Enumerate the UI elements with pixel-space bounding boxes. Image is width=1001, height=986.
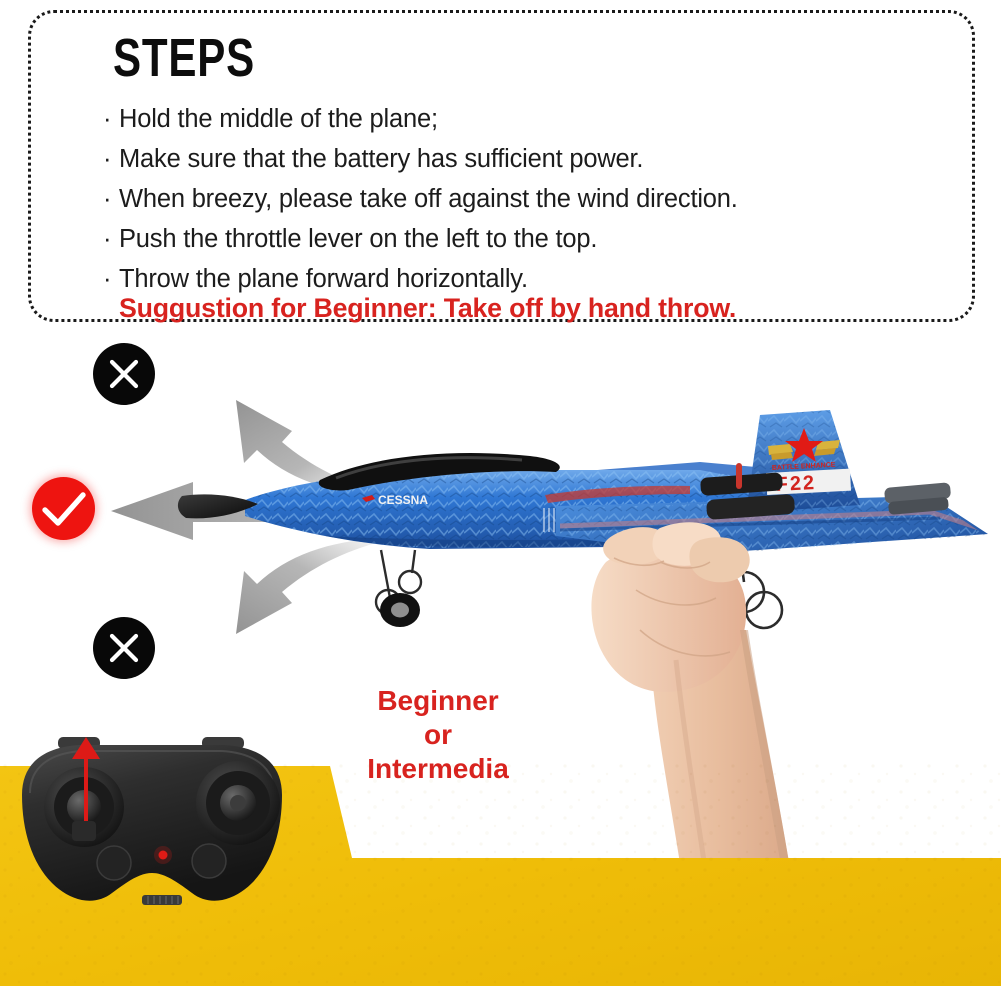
step-text: Push the throttle lever on the left to t… (119, 225, 597, 253)
bullet-icon: · (103, 99, 119, 139)
step-text: Hold the middle of the plane; (119, 105, 438, 133)
bullet-icon: · (103, 219, 119, 259)
bullet-icon: · (103, 139, 119, 179)
plane-landing-gear-front-wheel (380, 593, 420, 627)
step-item-2: ·Make sure that the battery has sufficie… (103, 139, 983, 179)
steps-panel: STEPS ·Hold the middle of the plane; ·Ma… (28, 10, 975, 322)
step-item-1: ·Hold the middle of the plane; (103, 99, 983, 139)
plane-brand-label: CESSNA (378, 493, 428, 507)
beginner-suggestion-text: Suggustion for Beginner: Take off by han… (119, 293, 736, 324)
step-text: When breezy, please take off against the… (119, 185, 738, 213)
page-title: STEPS (113, 31, 255, 85)
step-item-3: ·When breezy, please take off against th… (103, 179, 983, 219)
step-text: Throw the plane forward horizontally. (119, 265, 528, 293)
step-item-4: ·Push the throttle lever on the left to … (103, 219, 983, 259)
instruction-page: STEPS ·Hold the middle of the plane; ·Ma… (0, 0, 1001, 986)
left-round-button (97, 846, 131, 880)
beginner-line-1: Beginner (338, 684, 538, 718)
bullet-icon: · (103, 259, 119, 299)
remote-controller (6, 735, 336, 940)
step-text: Make sure that the battery has sufficien… (119, 145, 643, 173)
right-round-button (192, 844, 226, 878)
steps-list: ·Hold the middle of the plane; ·Make sur… (103, 99, 983, 299)
bullet-icon: · (103, 179, 119, 219)
right-direction-stick (196, 761, 280, 845)
beginner-line-2: or (338, 718, 538, 752)
